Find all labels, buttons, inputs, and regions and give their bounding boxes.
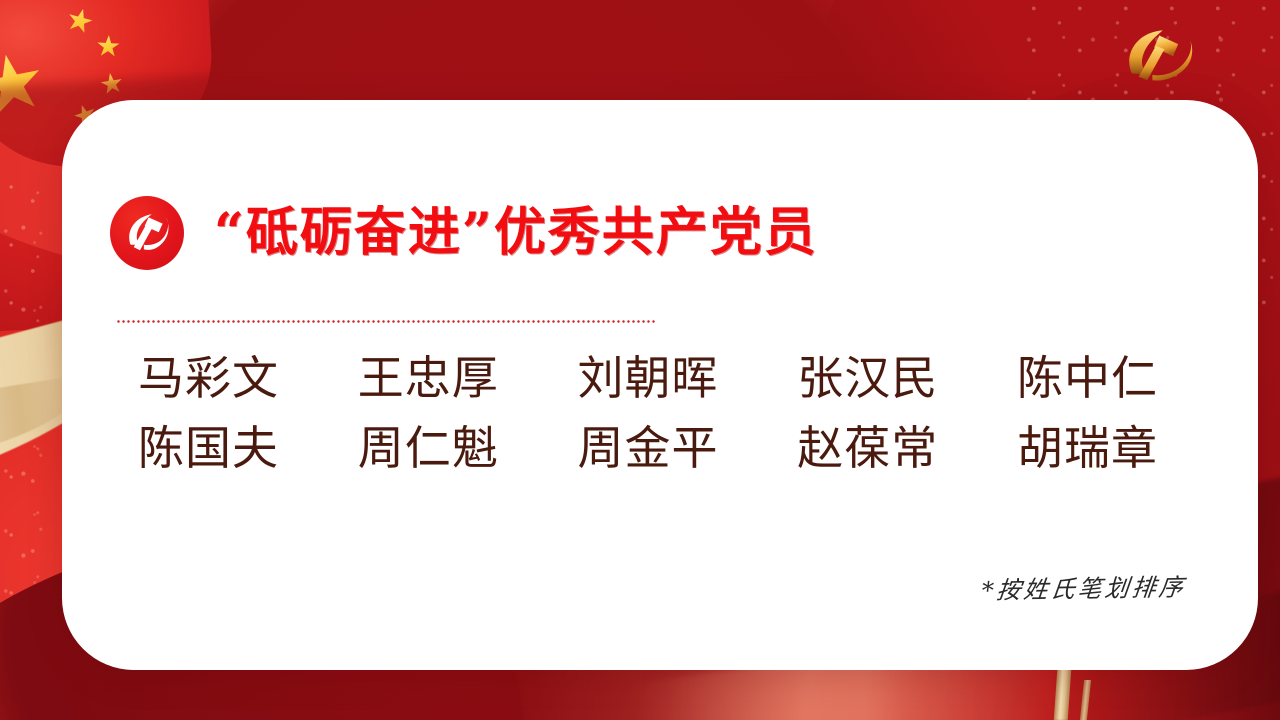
honoree-name-grid: 马彩文 王忠厚 刘朝晖 张汉民 陈中仁 陈国夫 周仁魁 周金平 赵葆常 胡瑞章 <box>138 352 1158 493</box>
honoree-name: 陈中仁 <box>1017 352 1158 404</box>
honoree-name: 周金平 <box>578 422 719 474</box>
honoree-name: 张汉民 <box>797 352 938 404</box>
honoree-name: 刘朝晖 <box>578 352 719 404</box>
dotted-divider <box>116 320 656 323</box>
name-row: 马彩文 王忠厚 刘朝晖 张汉民 陈中仁 <box>138 352 1158 404</box>
honoree-name: 胡瑞章 <box>1017 422 1158 474</box>
flag-star-small-2 <box>96 35 120 59</box>
page-title: “砥砺奋进”优秀共产党员 <box>214 207 818 259</box>
flag-star-small-3 <box>99 71 124 96</box>
honoree-name: 马彩文 <box>138 352 279 404</box>
honoree-name: 王忠厚 <box>358 352 499 404</box>
sort-order-footnote: *按姓氏笔划排序 <box>980 567 1188 606</box>
party-emblem-gold-icon <box>1118 20 1204 94</box>
name-row: 陈国夫 周仁魁 周金平 赵葆常 胡瑞章 <box>138 422 1158 474</box>
flag-star-large <box>0 49 48 122</box>
slide-root: “砥砺奋进”优秀共产党员 马彩文 王忠厚 刘朝晖 张汉民 陈中仁 陈国夫 周仁魁… <box>0 0 1280 720</box>
content-card: “砥砺奋进”优秀共产党员 马彩文 王忠厚 刘朝晖 张汉民 陈中仁 陈国夫 周仁魁… <box>62 100 1258 670</box>
title-row: “砥砺奋进”优秀共产党员 <box>110 196 818 270</box>
flag-star-small-1 <box>65 6 96 37</box>
honoree-name: 赵葆常 <box>797 422 938 474</box>
hammer-and-sickle-icon <box>110 196 184 270</box>
honoree-name: 周仁魁 <box>358 422 499 474</box>
honoree-name: 陈国夫 <box>138 422 279 474</box>
